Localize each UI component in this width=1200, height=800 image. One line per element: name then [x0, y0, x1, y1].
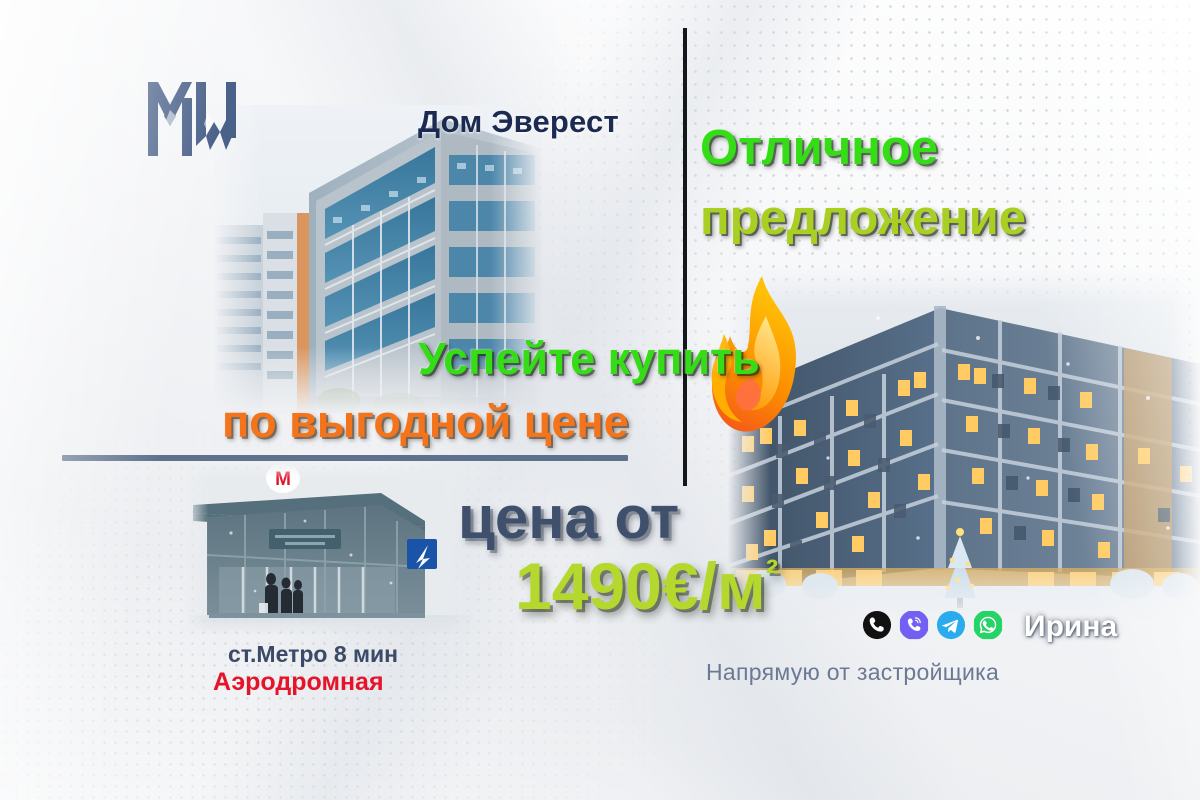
phone-icon[interactable]: [862, 610, 892, 640]
hurry-to-buy-text: Успейте купить: [418, 333, 760, 385]
price-amount: 1490€/м: [515, 549, 766, 623]
whatsapp-icon[interactable]: [973, 610, 1003, 640]
mw-monogram-logo: [146, 76, 238, 162]
telegram-icon[interactable]: [936, 610, 966, 640]
metro-walk-time: ст.Метро 8 мин: [228, 641, 398, 668]
metro-entrance-photo: M: [185, 463, 475, 635]
price-unit-exponent: ²: [766, 553, 779, 595]
metro-sign-letter: M: [275, 469, 291, 490]
price-label: цена от: [458, 483, 679, 552]
viber-icon[interactable]: [899, 610, 929, 640]
real-estate-advertisement: M: [0, 0, 1200, 800]
developer-tagline: Напрямую от застройщика: [706, 659, 999, 686]
page-title: Дом Эверест: [418, 104, 619, 140]
offer-headline-line1: Отличное: [700, 120, 938, 176]
metro-station-name: Аэродромная: [213, 668, 384, 697]
good-price-text: по выгодной цене: [222, 396, 629, 448]
offer-headline-line2: предложение: [700, 190, 1026, 246]
vertical-divider: [683, 28, 687, 486]
contact-icons-row: [862, 610, 1003, 640]
agent-name: Ирина: [1024, 610, 1117, 644]
horizontal-divider: [62, 455, 628, 461]
price-value: 1490€/м²: [515, 548, 778, 624]
